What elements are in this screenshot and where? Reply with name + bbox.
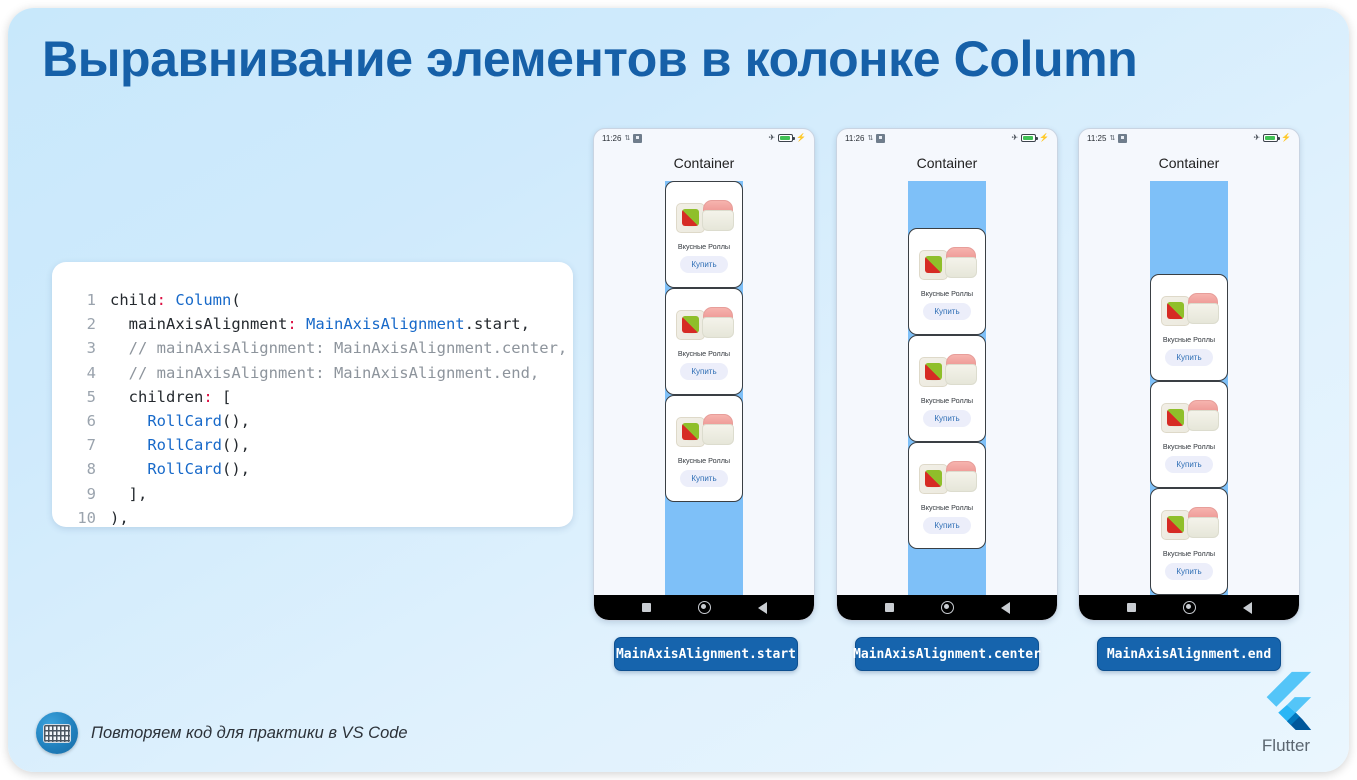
status-bar-right: ✈⚡ [1011, 134, 1049, 142]
page-title: Выравнивание элементов в колонке Column [42, 30, 1137, 88]
buy-button[interactable]: Купить [1165, 563, 1212, 580]
roll-card[interactable]: Вкусные РоллыКупить [1150, 274, 1228, 381]
maki-roll-icon [919, 464, 948, 494]
charging-bolt-icon: ⚡ [1039, 134, 1049, 142]
maki-roll-icon [1161, 403, 1190, 433]
line-text: child: Column( [110, 288, 241, 312]
roll-card[interactable]: Вкусные РоллыКупить [665, 395, 743, 502]
line-number: 4 [52, 361, 110, 385]
roll-card-label: Вкусные Роллы [921, 503, 973, 512]
app-bar-title: Container [837, 155, 1057, 171]
sim-card-icon [1118, 134, 1127, 143]
buy-button[interactable]: Купить [923, 410, 970, 427]
sushi-icon [1161, 505, 1217, 545]
rice-base [702, 317, 734, 338]
status-bar-left: 11:25⇅ [1087, 134, 1127, 143]
maki-roll-icon [676, 417, 705, 447]
buy-button[interactable]: Купить [680, 470, 727, 487]
sushi-icon [676, 198, 732, 238]
sushi-icon [676, 305, 732, 345]
rice-base [1187, 303, 1219, 324]
line-text: RollCard(), [110, 409, 250, 433]
code-block: 1child: Column(2 mainAxisAlignment: Main… [52, 262, 573, 527]
column-container: Вкусные РоллыКупитьВкусные РоллыКупитьВк… [908, 181, 986, 595]
buy-button[interactable]: Купить [923, 517, 970, 534]
rice-base [1187, 410, 1219, 431]
keyboard-glyph [43, 724, 71, 743]
airplane-mode-icon: ✈ [768, 134, 775, 142]
status-bar: 11:26⇅✈⚡ [594, 129, 814, 147]
maki-roll-icon [676, 310, 705, 340]
caption-button-center[interactable]: MainAxisAlignment.center [855, 637, 1039, 671]
roll-card-label: Вкусные Роллы [921, 396, 973, 405]
android-nav-bar [1079, 595, 1299, 620]
home-icon[interactable] [941, 601, 954, 614]
footer-text: Повторяем код для практики в VS Code [91, 724, 408, 743]
sushi-icon [1161, 398, 1217, 438]
roll-card-label: Вкусные Роллы [678, 242, 730, 251]
column-container: Вкусные РоллыКупитьВкусные РоллыКупитьВк… [1150, 181, 1228, 595]
code-line: 10), [52, 506, 573, 527]
home-icon[interactable] [1183, 601, 1196, 614]
nigiri-sushi-icon [702, 200, 732, 231]
status-bar-left: 11:26⇅ [845, 134, 885, 143]
footer: Повторяем код для практики в VS Code [36, 712, 408, 754]
code-line: 4 // mainAxisAlignment: MainAxisAlignmen… [52, 361, 573, 385]
status-bar-right: ✈⚡ [1253, 134, 1291, 142]
roll-card[interactable]: Вкусные РоллыКупить [908, 442, 986, 549]
back-icon[interactable] [1001, 602, 1010, 614]
status-bar: 11:26⇅✈⚡ [837, 129, 1057, 147]
caption-button-end[interactable]: MainAxisAlignment.end [1097, 637, 1281, 671]
back-icon[interactable] [1243, 602, 1252, 614]
nigiri-sushi-icon [945, 354, 975, 385]
buy-button[interactable]: Купить [680, 256, 727, 273]
line-number: 9 [52, 482, 110, 506]
sync-icon: ⇅ [1109, 135, 1115, 142]
line-text: RollCard(), [110, 457, 250, 481]
roll-card-label: Вкусные Роллы [1163, 335, 1215, 344]
keyboard-icon [36, 712, 78, 754]
line-number: 5 [52, 385, 110, 409]
sim-card-icon [633, 134, 642, 143]
rice-base [945, 471, 977, 492]
sushi-icon [919, 459, 975, 499]
maki-roll-icon [676, 203, 705, 233]
column-container: Вкусные РоллыКупитьВкусные РоллыКупитьВк… [665, 181, 743, 595]
maki-roll-icon [919, 357, 948, 387]
recent-apps-icon[interactable] [1127, 603, 1136, 612]
nigiri-sushi-icon [1187, 400, 1217, 431]
flutter-mark-icon [1255, 668, 1317, 730]
rice-base [1187, 517, 1219, 538]
buy-button[interactable]: Купить [1165, 349, 1212, 366]
sushi-icon [676, 412, 732, 452]
sushi-icon [919, 352, 975, 392]
code-lines: 1child: Column(2 mainAxisAlignment: Main… [52, 288, 573, 527]
line-text: // mainAxisAlignment: MainAxisAlignment.… [110, 361, 539, 385]
airplane-mode-icon: ✈ [1011, 134, 1018, 142]
slide-canvas: Выравнивание элементов в колонке Column … [8, 8, 1349, 772]
line-number: 10 [52, 506, 110, 527]
roll-card[interactable]: Вкусные РоллыКупить [665, 288, 743, 395]
line-text: // mainAxisAlignment: MainAxisAlignment.… [110, 336, 567, 360]
line-number: 1 [52, 288, 110, 312]
nigiri-sushi-icon [945, 247, 975, 278]
roll-card-label: Вкусные Роллы [678, 456, 730, 465]
phone-mockup-start: 11:26⇅✈⚡ContainerВкусные РоллыКупитьВкус… [593, 128, 815, 621]
rice-base [702, 424, 734, 445]
flutter-logo: Flutter [1247, 668, 1325, 756]
sync-icon: ⇅ [624, 135, 630, 142]
code-line: 2 mainAxisAlignment: MainAxisAlignment.s… [52, 312, 573, 336]
rice-base [702, 210, 734, 231]
roll-card[interactable]: Вкусные РоллыКупить [908, 335, 986, 442]
line-number: 6 [52, 409, 110, 433]
sim-card-icon [876, 134, 885, 143]
line-text: children: [ [110, 385, 231, 409]
caption-button-start[interactable]: MainAxisAlignment.start [614, 637, 798, 671]
charging-bolt-icon: ⚡ [796, 134, 806, 142]
recent-apps-icon[interactable] [885, 603, 894, 612]
battery-icon [1021, 134, 1036, 142]
roll-card[interactable]: Вкусные РоллыКупить [1150, 381, 1228, 488]
code-line: 7 RollCard(), [52, 433, 573, 457]
maki-roll-icon [1161, 296, 1190, 326]
roll-card-label: Вкусные Роллы [678, 349, 730, 358]
roll-card-label: Вкусные Роллы [921, 289, 973, 298]
line-number: 7 [52, 433, 110, 457]
battery-icon [1263, 134, 1278, 142]
line-number: 2 [52, 312, 110, 336]
buy-button[interactable]: Купить [923, 303, 970, 320]
line-number: 3 [52, 336, 110, 360]
nigiri-sushi-icon [1187, 507, 1217, 538]
roll-card[interactable]: Вкусные РоллыКупить [665, 181, 743, 288]
roll-card[interactable]: Вкусные РоллыКупить [1150, 488, 1228, 595]
nigiri-sushi-icon [702, 307, 732, 338]
app-bar-title: Container [594, 155, 814, 171]
recent-apps-icon[interactable] [642, 603, 651, 612]
buy-button[interactable]: Купить [680, 363, 727, 380]
home-icon[interactable] [698, 601, 711, 614]
roll-card-label: Вкусные Роллы [1163, 442, 1215, 451]
sushi-icon [919, 245, 975, 285]
line-text: ), [110, 506, 129, 527]
back-icon[interactable] [758, 602, 767, 614]
status-bar-left: 11:26⇅ [602, 134, 642, 143]
code-line: 3 // mainAxisAlignment: MainAxisAlignmen… [52, 336, 573, 360]
airplane-mode-icon: ✈ [1253, 134, 1260, 142]
phone-mockup-end: 11:25⇅✈⚡ContainerВкусные РоллыКупитьВкус… [1078, 128, 1300, 621]
rice-base [945, 257, 977, 278]
code-line: 9 ], [52, 482, 573, 506]
code-line: 8 RollCard(), [52, 457, 573, 481]
status-time: 11:25 [1087, 134, 1106, 143]
maki-roll-icon [1161, 510, 1190, 540]
status-time: 11:26 [602, 134, 621, 143]
rice-base [945, 364, 977, 385]
charging-bolt-icon: ⚡ [1281, 134, 1291, 142]
maki-roll-icon [919, 250, 948, 280]
nigiri-sushi-icon [1187, 293, 1217, 324]
line-text: ], [110, 482, 147, 506]
status-bar-right: ✈⚡ [768, 134, 806, 142]
android-nav-bar [594, 595, 814, 620]
code-line: 6 RollCard(), [52, 409, 573, 433]
roll-card-label: Вкусные Роллы [1163, 549, 1215, 558]
sushi-icon [1161, 291, 1217, 331]
line-text: RollCard(), [110, 433, 250, 457]
app-bar-title: Container [1079, 155, 1299, 171]
sync-icon: ⇅ [867, 135, 873, 142]
nigiri-sushi-icon [945, 461, 975, 492]
nigiri-sushi-icon [702, 414, 732, 445]
android-nav-bar [837, 595, 1057, 620]
phone-mockup-center: 11:26⇅✈⚡ContainerВкусные РоллыКупитьВкус… [836, 128, 1058, 621]
code-line: 5 children: [ [52, 385, 573, 409]
roll-card[interactable]: Вкусные РоллыКупить [908, 228, 986, 335]
code-line: 1child: Column( [52, 288, 573, 312]
buy-button[interactable]: Купить [1165, 456, 1212, 473]
flutter-wordmark: Flutter [1247, 736, 1325, 756]
status-time: 11:26 [845, 134, 864, 143]
status-bar: 11:25⇅✈⚡ [1079, 129, 1299, 147]
line-text: mainAxisAlignment: MainAxisAlignment.sta… [110, 312, 530, 336]
line-number: 8 [52, 457, 110, 481]
battery-icon [778, 134, 793, 142]
